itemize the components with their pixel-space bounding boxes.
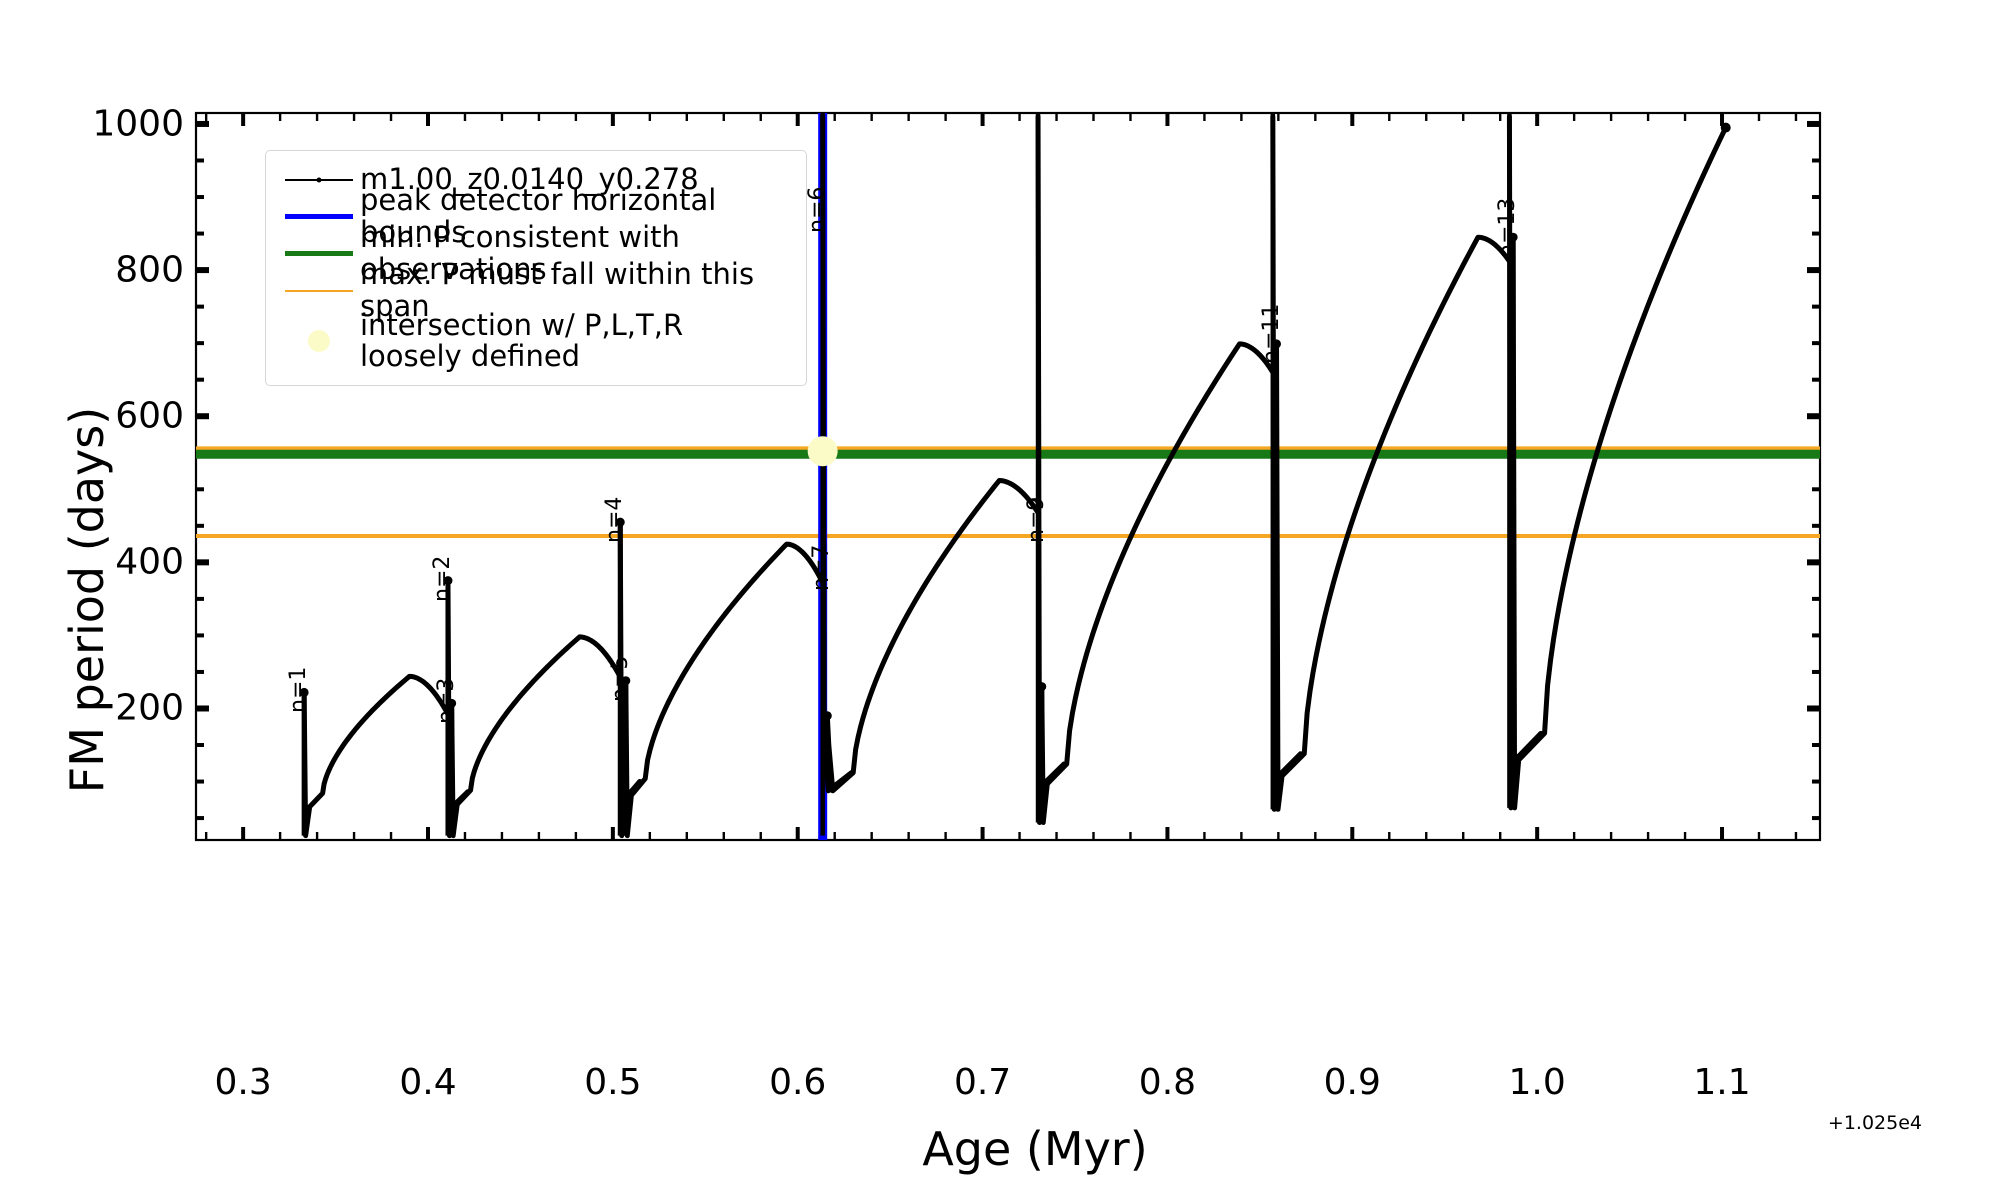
x-axis-title: Age (Myr) xyxy=(0,1122,2000,1176)
legend-marker-icon xyxy=(308,330,330,352)
x-axis-title-text: Age (Myr) xyxy=(922,1122,1147,1176)
legend-entry-label: intersection w/ P,L,T,R loosely defined xyxy=(358,310,683,373)
legend-key-line-thick xyxy=(280,235,358,272)
figure-root: FM period (days) Age (Myr) +1.025e4 2004… xyxy=(0,0,2000,1200)
legend-key-line-marker xyxy=(280,161,358,198)
x-axis-offset-text: +1.025e4 xyxy=(1828,1112,1922,1134)
x-tick-label: 0.8 xyxy=(1097,1062,1237,1103)
x-tick-label: 0.9 xyxy=(1282,1062,1422,1103)
x-tick-label: 1.0 xyxy=(1467,1062,1607,1103)
y-tick-label: 200 xyxy=(44,688,184,729)
x-tick-label: 0.5 xyxy=(543,1062,683,1103)
x-tick-label: 1.1 xyxy=(1652,1062,1792,1103)
pulse-label: n=9 xyxy=(1024,497,1049,543)
x-tick-label: 0.4 xyxy=(358,1062,498,1103)
y-tick-label: 400 xyxy=(44,542,184,583)
x-tick-label: 0.7 xyxy=(913,1062,1053,1103)
y-axis-title: FM period (days) xyxy=(52,0,122,1200)
pulse-label: n=3 xyxy=(434,678,459,724)
y-tick-label: 600 xyxy=(44,396,184,437)
x-tick-label: 0.6 xyxy=(728,1062,868,1103)
legend-key-circle xyxy=(280,309,358,373)
legend-line-swatch xyxy=(285,251,353,256)
legend-dot-icon xyxy=(317,177,322,182)
legend-key-line-thick xyxy=(280,198,358,235)
pulse-label: n=13 xyxy=(1495,198,1520,258)
legend[interactable]: m1.00_z0.0140_y0.278peak detector horizo… xyxy=(265,150,807,386)
pulse-label: n=6 xyxy=(805,186,830,232)
pulse-label: n=2 xyxy=(430,555,455,601)
legend-line-swatch xyxy=(285,214,353,219)
y-tick-label: 800 xyxy=(44,250,184,291)
pulse-label: n=7 xyxy=(809,544,834,590)
pulse-label: n=1 xyxy=(286,667,311,713)
legend-entry[interactable]: max. P must fall within this span xyxy=(280,272,794,309)
x-tick-label: 0.3 xyxy=(173,1062,313,1103)
pulse-label: n=4 xyxy=(602,497,627,543)
intersection-markers xyxy=(808,436,838,466)
y-tick-label: 1000 xyxy=(44,103,184,144)
pulse-label: n=11 xyxy=(1259,304,1284,364)
legend-line-swatch xyxy=(285,290,353,292)
pulse-label: n=5 xyxy=(608,655,633,701)
legend-key-line-thin xyxy=(280,272,358,309)
y-axis-title-text: FM period (days) xyxy=(60,407,114,793)
